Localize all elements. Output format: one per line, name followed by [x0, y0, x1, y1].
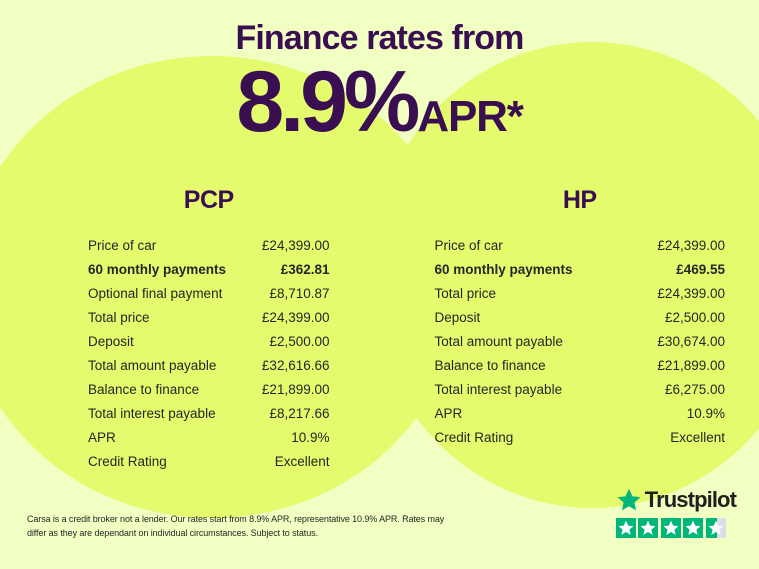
- finance-row-value: Excellent: [275, 454, 330, 469]
- finance-row-label: Credit Rating: [88, 454, 167, 469]
- finance-row: 60 monthly payments£362.81: [88, 257, 330, 281]
- finance-row: Deposit£2,500.00: [88, 329, 330, 353]
- finance-row: Total amount payable£30,674.00: [435, 329, 726, 353]
- finance-row-value: £21,899.00: [657, 358, 725, 373]
- finance-row-label: Deposit: [435, 310, 481, 325]
- finance-row: APR10.9%: [88, 425, 330, 449]
- finance-row-value: £24,399.00: [657, 238, 725, 253]
- finance-row-label: Total amount payable: [435, 334, 563, 349]
- trustpilot-star-box: [683, 518, 703, 538]
- header: Finance rates from 8.9% APR*: [0, 0, 759, 145]
- finance-row-value: 10.9%: [687, 406, 725, 421]
- finance-row: Optional final payment£8,710.87: [88, 281, 330, 305]
- finance-row-label: APR: [88, 430, 116, 445]
- finance-row-label: Credit Rating: [435, 430, 514, 445]
- finance-row: Total price£24,399.00: [435, 281, 726, 305]
- finance-row-label: Price of car: [435, 238, 503, 253]
- apr-label: APR*: [417, 95, 522, 139]
- finance-row-value: Excellent: [670, 430, 725, 445]
- column-title-pcp: PCP: [88, 186, 330, 215]
- finance-comparison: PCP Price of car£24,399.0060 monthly pay…: [0, 186, 759, 473]
- trustpilot-star-box: [638, 518, 658, 538]
- finance-row-label: Total interest payable: [435, 382, 563, 397]
- finance-row: Deposit£2,500.00: [435, 305, 726, 329]
- finance-row-value: £8,217.66: [269, 406, 329, 421]
- page-title: Finance rates from: [0, 0, 759, 57]
- finance-row: Total price£24,399.00: [88, 305, 330, 329]
- finance-row: Total amount payable£32,616.66: [88, 353, 330, 377]
- finance-row-label: Total amount payable: [88, 358, 216, 373]
- finance-row-value: £24,399.00: [262, 238, 330, 253]
- finance-row-value: £469.55: [676, 262, 725, 277]
- finance-column-hp: HP Price of car£24,399.0060 monthly paym…: [380, 186, 759, 473]
- finance-row-label: Total price: [435, 286, 497, 301]
- finance-row-value: £24,399.00: [657, 286, 725, 301]
- finance-row-label: Total interest payable: [88, 406, 216, 421]
- finance-rows-hp: Price of car£24,399.0060 monthly payment…: [435, 233, 726, 449]
- finance-row: Credit RatingExcellent: [435, 425, 726, 449]
- finance-row-value: £6,275.00: [665, 382, 725, 397]
- finance-row-value: £8,710.87: [269, 286, 329, 301]
- finance-row-value: £32,616.66: [262, 358, 330, 373]
- finance-row: Credit RatingExcellent: [88, 449, 330, 473]
- finance-row-value: £2,500.00: [665, 310, 725, 325]
- trustpilot-wordmark: Trustpilot: [645, 489, 736, 511]
- finance-row-label: Deposit: [88, 334, 134, 349]
- trustpilot-star-icon: [616, 487, 642, 513]
- disclaimer-text: Carsa is a credit broker not a lender. O…: [27, 513, 447, 541]
- finance-row-label: 60 monthly payments: [88, 262, 226, 277]
- trustpilot-logo: Trustpilot: [616, 487, 736, 513]
- trustpilot-star-box: [661, 518, 681, 538]
- finance-row-value: £21,899.00: [262, 382, 330, 397]
- finance-row-value: £362.81: [281, 262, 330, 277]
- finance-row: Total interest payable£8,217.66: [88, 401, 330, 425]
- trustpilot-star-box: [616, 518, 636, 538]
- finance-row-value: £2,500.00: [269, 334, 329, 349]
- finance-row: Price of car£24,399.00: [435, 233, 726, 257]
- finance-row: Price of car£24,399.00: [88, 233, 330, 257]
- finance-row: Balance to finance£21,899.00: [88, 377, 330, 401]
- finance-row-label: 60 monthly payments: [435, 262, 573, 277]
- finance-row: 60 monthly payments£469.55: [435, 257, 726, 281]
- finance-rows-pcp: Price of car£24,399.0060 monthly payment…: [88, 233, 330, 473]
- finance-row: APR10.9%: [435, 401, 726, 425]
- finance-row-label: Optional final payment: [88, 286, 222, 301]
- finance-row-label: Total price: [88, 310, 150, 325]
- finance-row-label: Price of car: [88, 238, 156, 253]
- trustpilot-star-box: [706, 518, 726, 538]
- trustpilot-stars: [616, 518, 726, 538]
- finance-row: Balance to finance£21,899.00: [435, 353, 726, 377]
- finance-row: Total interest payable£6,275.00: [435, 377, 726, 401]
- column-title-hp: HP: [435, 186, 726, 215]
- promo-graphic: Finance rates from 8.9% APR* PCP Price o…: [0, 0, 759, 569]
- apr-headline: 8.9% APR*: [0, 59, 759, 145]
- finance-row-value: £24,399.00: [262, 310, 330, 325]
- finance-row-label: Balance to finance: [88, 382, 199, 397]
- finance-column-pcp: PCP Price of car£24,399.0060 monthly pay…: [0, 186, 380, 473]
- finance-row-value: £30,674.00: [657, 334, 725, 349]
- trustpilot-rating[interactable]: Trustpilot: [616, 487, 736, 538]
- finance-row-label: Balance to finance: [435, 358, 546, 373]
- finance-row-label: APR: [435, 406, 463, 421]
- apr-rate-value: 8.9%: [236, 59, 416, 145]
- finance-row-value: 10.9%: [291, 430, 329, 445]
